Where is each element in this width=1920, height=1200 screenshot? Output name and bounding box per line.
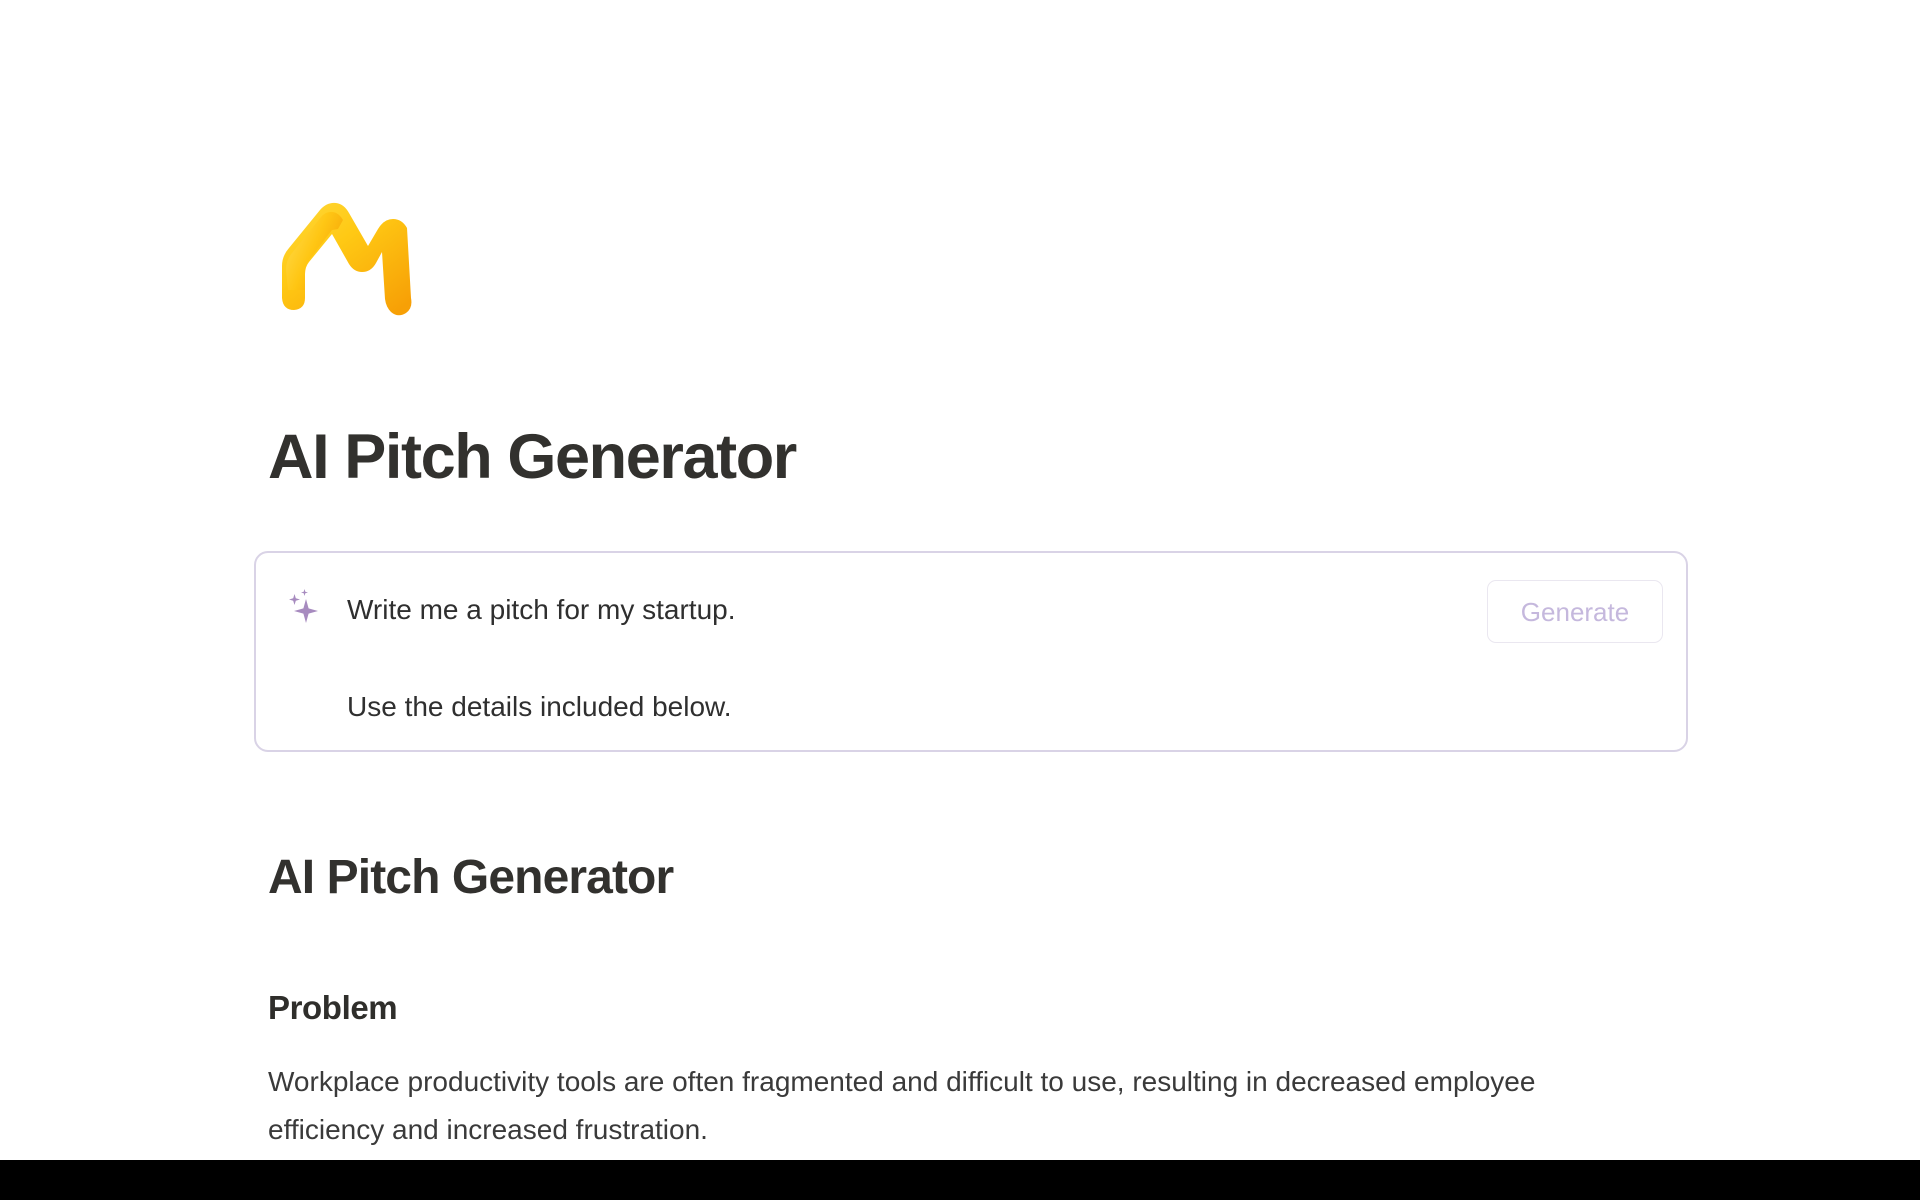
document-title: AI Pitch Generator — [268, 852, 673, 905]
prompt-text-line-2[interactable]: Use the details included below. — [347, 690, 731, 724]
prompt-text-line-1[interactable]: Write me a pitch for my startup. — [347, 593, 736, 627]
section-heading-problem: Problem — [268, 990, 397, 1027]
motion-m-logo-icon — [272, 186, 422, 326]
viewport-letterbox-bottom — [0, 1160, 1920, 1200]
prompt-card-inner: Write me a pitch for my startup. Use the… — [256, 553, 1686, 750]
app-screen: AI Pitch Generator Write me a pitch for … — [0, 0, 1920, 1200]
page-title: AI Pitch Generator — [268, 423, 796, 491]
generate-button[interactable]: Generate — [1487, 580, 1663, 643]
prompt-card[interactable]: Write me a pitch for my startup. Use the… — [254, 551, 1688, 752]
ai-sparkle-icon — [282, 585, 328, 631]
section-body-problem: Workplace productivity tools are often f… — [268, 1058, 1658, 1154]
